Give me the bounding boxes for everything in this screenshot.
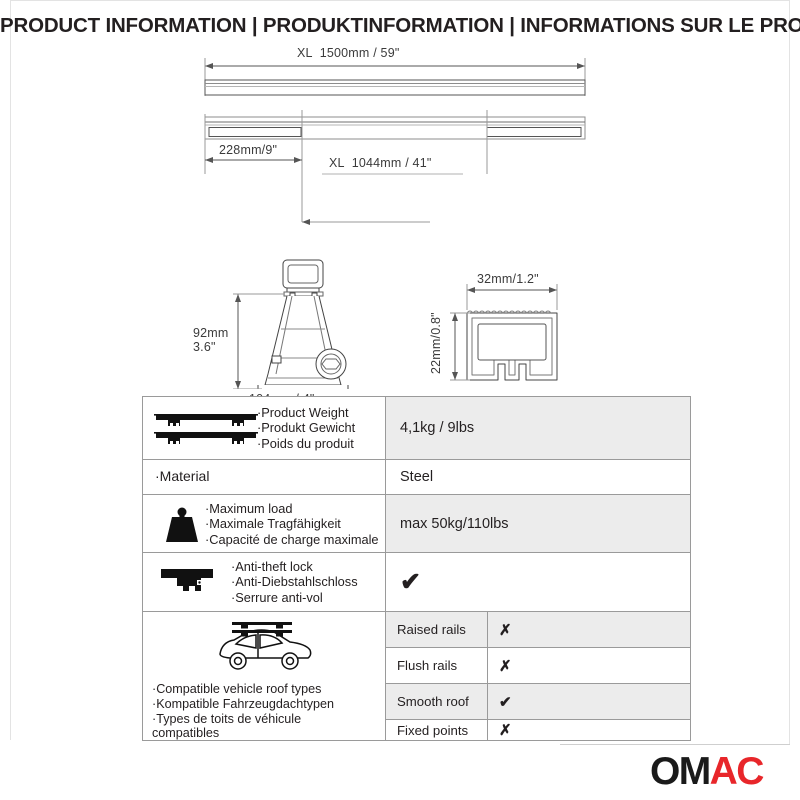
table-row-product-weight: ·Product Weight ·Produkt Gewicht ·Poids …: [143, 397, 690, 460]
roof-option-raised-rails: Raised rails ✗: [386, 612, 690, 648]
dimension-foot-offset: 228mm/9": [219, 143, 277, 157]
row-label-text: ·Material: [155, 469, 209, 484]
omac-logo: OMAC: [650, 752, 763, 791]
technical-drawing-svg: [0, 44, 800, 389]
row-label-cell: ·Compatible vehicle roof types ·Kompatib…: [143, 612, 386, 740]
roof-option-mark: ✗: [488, 612, 690, 647]
roof-option-flush-rails: Flush rails ✗: [386, 648, 690, 684]
checkmark-icon: ✔: [400, 570, 421, 595]
roof-option-name: Raised rails: [386, 612, 488, 647]
dimension-bar-span: XL1044mm / 41": [329, 156, 432, 170]
lock-icon: [155, 565, 225, 597]
roof-option-mark: ✔: [488, 684, 690, 719]
dimension-foot-height: 92mm 3.6": [193, 326, 229, 354]
row-label-cell: ·Product Weight ·Produkt Gewicht ·Poids …: [143, 397, 386, 459]
specifications-table: ·Product Weight ·Produkt Gewicht ·Poids …: [142, 396, 691, 741]
roof-option-smooth-roof: Smooth roof ✔: [386, 684, 690, 720]
roof-option-name: Flush rails: [386, 648, 488, 683]
table-row-material: ·Material Steel: [143, 460, 690, 495]
table-row-roof-types: ·Compatible vehicle roof types ·Kompatib…: [143, 612, 690, 740]
roof-option-fixed-points: Fixed points ✗: [386, 720, 690, 740]
car-with-rack-icon: [201, 618, 321, 676]
logo-text-om: OM: [650, 750, 710, 793]
product-information-sheet: PRODUCT INFORMATION | PRODUKTINFORMATION…: [0, 0, 800, 800]
row-label-cell: ·Maximum load ·Maximale Tragfähigkeit ·C…: [143, 495, 386, 552]
dimension-profile-height: 22mm/0.8": [429, 312, 443, 374]
row-label-text: ·Product Weight ·Produkt Gewicht ·Poids …: [257, 405, 355, 451]
technical-drawing: XL1500mm / 59" 228mm/9" XL1044mm / 41" 9…: [0, 44, 800, 389]
logo-text-ac: AC: [710, 750, 763, 793]
row-label-text: ·Anti-theft lock ·Anti-Diebstahlschloss …: [231, 559, 358, 605]
weight-icon: [157, 505, 207, 545]
row-label-text: ·Maximum load ·Maximale Tragfähigkeit ·C…: [205, 501, 379, 547]
crossbars-icon: [151, 409, 261, 449]
roof-option-mark: ✗: [488, 720, 690, 740]
row-label-cell: ·Material: [143, 460, 386, 494]
row-value-product-weight: 4,1kg / 9lbs: [386, 397, 690, 459]
row-label-cell: ·Anti-theft lock ·Anti-Diebstahlschloss …: [143, 553, 386, 611]
roof-option-name: Smooth roof: [386, 684, 488, 719]
row-value-anti-theft-lock: ✔: [386, 553, 690, 611]
dimension-profile-width: 32mm/1.2": [477, 272, 539, 286]
dimension-bar-length: XL1500mm / 59": [297, 46, 400, 60]
roof-option-mark: ✗: [488, 648, 690, 683]
row-value-material: Steel: [386, 460, 690, 494]
table-row-maximum-load: ·Maximum load ·Maximale Tragfähigkeit ·C…: [143, 495, 690, 553]
row-label-text: ·Compatible vehicle roof types ·Kompatib…: [152, 682, 334, 741]
row-value-maximum-load: max 50kg/110lbs: [386, 495, 690, 552]
page-frame-top: [10, 0, 790, 1]
roof-option-name: Fixed points: [386, 720, 488, 740]
table-row-anti-theft-lock: ·Anti-theft lock ·Anti-Diebstahlschloss …: [143, 553, 690, 612]
page-frame-bottom: [560, 744, 790, 745]
page-title: PRODUCT INFORMATION | PRODUKTINFORMATION…: [0, 14, 800, 38]
